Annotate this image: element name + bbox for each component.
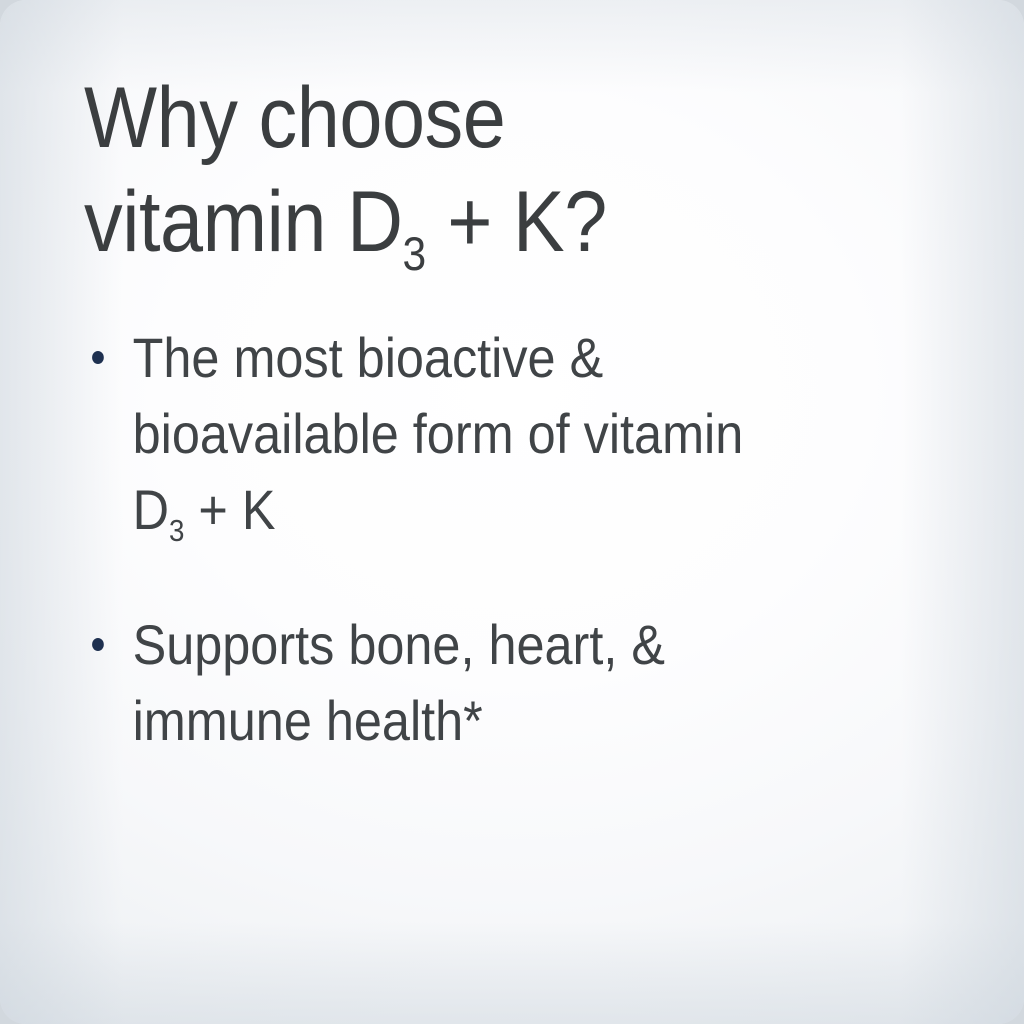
bullet-dot-icon [92, 351, 104, 364]
page-title-line-2-prefix: vitamin D [84, 174, 403, 270]
list-item-text-suffix: + K [184, 478, 275, 541]
bullet-dot-icon [92, 638, 104, 651]
list-item: The most bioactive & bioavailable form o… [84, 320, 795, 557]
list-item-subscript-3: 3 [169, 513, 184, 548]
page-title-subscript-3: 3 [403, 228, 427, 281]
page-title: Why choosevitamin D3 + K? [84, 66, 804, 288]
page-title-line-2-suffix: + K? [426, 174, 607, 270]
list-item-text-prefix: Supports bone, heart, & immune health* [133, 613, 679, 752]
slide-content: Why choosevitamin D3 + K? The most bioac… [0, 0, 1024, 1024]
benefits-bullet-list: The most bioactive & bioavailable form o… [84, 320, 874, 759]
slide-frame: Why choosevitamin D3 + K? The most bioac… [0, 0, 1024, 1024]
page-title-line-1: Why choose [84, 70, 505, 166]
list-item: Supports bone, heart, & immune health* [84, 607, 795, 759]
